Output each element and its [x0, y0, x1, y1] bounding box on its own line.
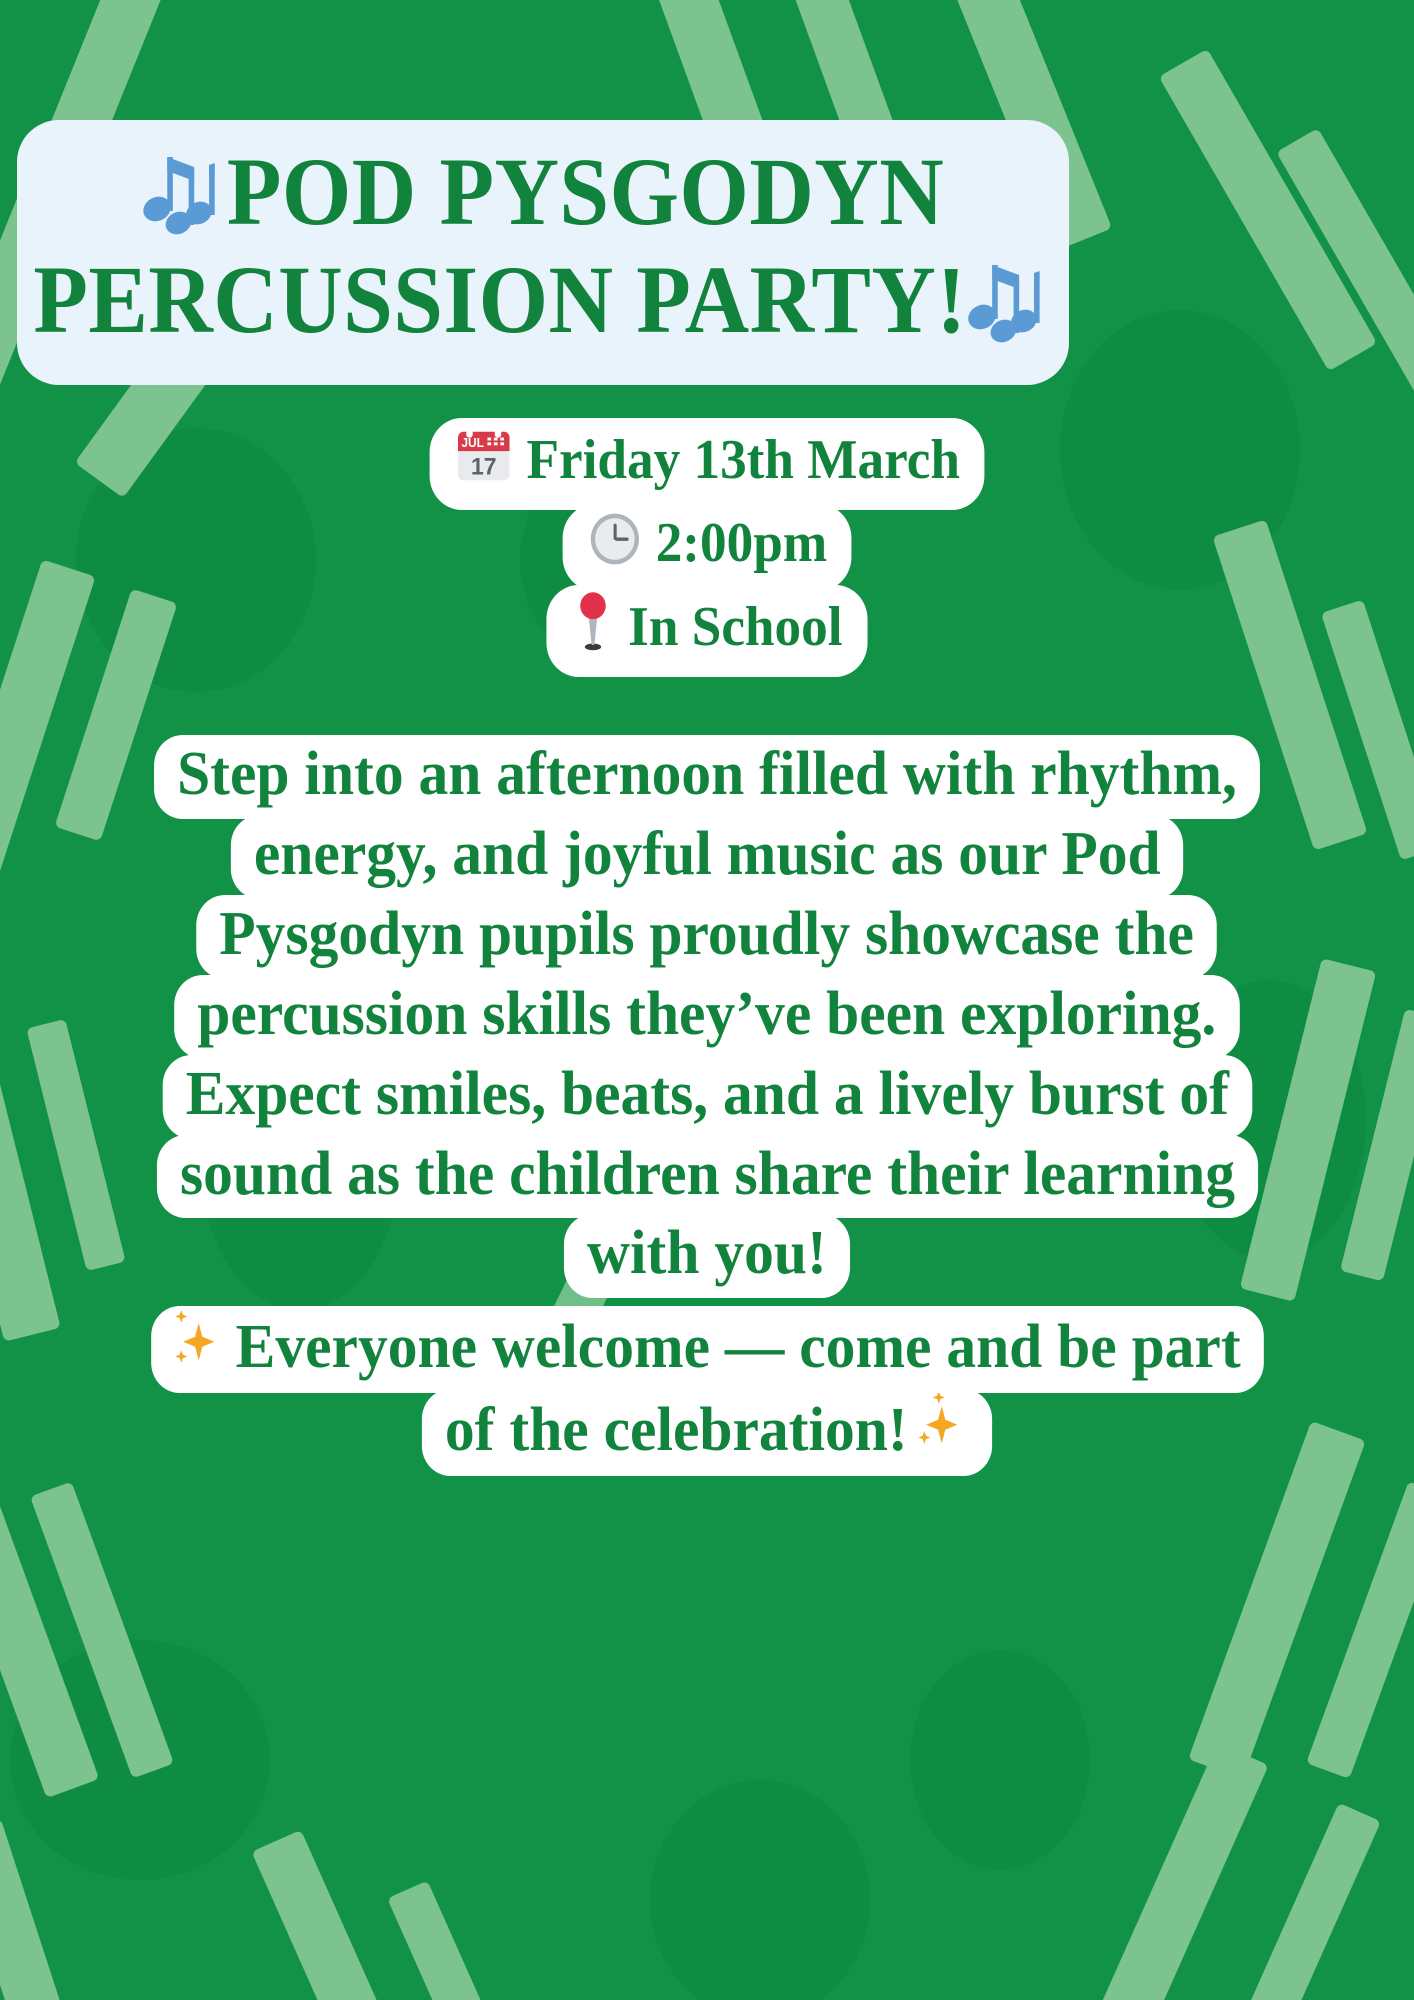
sparkles-icon	[174, 1310, 226, 1385]
poster-canvas: POD PYSGODYN PERCUSSION PARTY!	[0, 0, 1414, 2000]
body-line: Step into an afternoon filled with rhyth…	[154, 735, 1260, 819]
closing-line-1: Everyone welcome — come and be part	[151, 1306, 1264, 1393]
sparkles-icon	[917, 1393, 969, 1468]
closing-text-2: of the celebration!	[445, 1395, 908, 1467]
location-pin-icon	[571, 591, 615, 667]
page-title: POD PYSGODYN PERCUSSION PARTY!	[13, 145, 1073, 360]
calendar-icon: JUL 17	[454, 424, 513, 500]
body-line: sound as the children share their learni…	[156, 1135, 1257, 1219]
music-notes-icon	[142, 151, 228, 252]
title-line-1: POD PYSGODYN	[34, 145, 1053, 253]
closing-text-1: Everyone welcome — come and be part	[235, 1312, 1240, 1384]
closing-line-2: of the celebration!	[422, 1389, 992, 1476]
body-line: with you!	[564, 1214, 850, 1298]
music-notes-icon	[967, 259, 1053, 360]
calendar-day-label: 17	[471, 454, 497, 481]
event-details: JUL 17 Friday 13th March 2:	[0, 418, 1414, 677]
body-paragraph: Step into an afternoon filled with rhyth…	[0, 735, 1414, 1476]
body-line: Pysgodyn pupils proudly showcase the	[197, 895, 1218, 979]
detail-row-location: In School	[547, 585, 868, 677]
body-line: percussion skills they’ve been exploring…	[174, 975, 1239, 1059]
calendar-month-label: JUL	[461, 436, 484, 450]
body-line: energy, and joyful music as our Pod	[231, 815, 1184, 899]
title-text-1: POD PYSGODYN	[227, 138, 944, 245]
clock-icon	[587, 510, 642, 582]
title-line-2: PERCUSSION PARTY!	[34, 253, 1053, 361]
detail-row-date: JUL 17 Friday 13th March	[429, 418, 984, 510]
detail-label-time: 2:00pm	[655, 512, 826, 575]
detail-row-time: 2:00pm	[562, 504, 851, 592]
detail-label-location: In School	[628, 596, 842, 659]
title-card: POD PYSGODYN PERCUSSION PARTY!	[17, 120, 1069, 385]
title-text-2: PERCUSSION PARTY!	[34, 246, 967, 353]
detail-label-date: Friday 13th March	[526, 429, 959, 492]
body-line: Expect smiles, beats, and a lively burst…	[162, 1055, 1251, 1139]
